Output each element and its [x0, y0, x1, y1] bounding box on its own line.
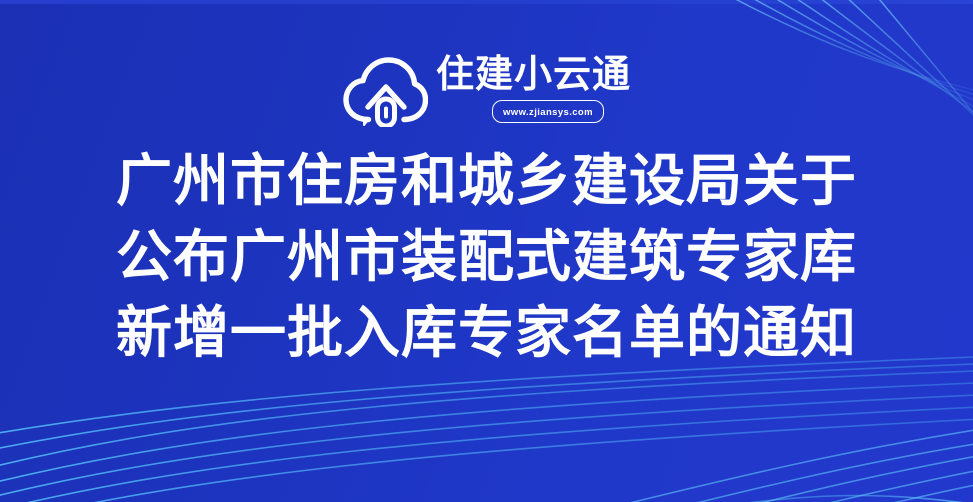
- headline-line-2: 公布广州市装配式建筑专家库: [0, 219, 973, 295]
- headline-line-1: 广州市住房和城乡建设局关于: [0, 143, 973, 219]
- brand-block: 住建小云通 www.zjiansys.com: [436, 53, 631, 123]
- notice-banner: 住建小云通 www.zjiansys.com 广州市住房和城乡建设局关于 公布广…: [0, 0, 973, 502]
- headline-line-3: 新增一批入库专家名单的通知: [0, 295, 973, 371]
- page-title: 广州市住房和城乡建设局关于 公布广州市装配式建筑专家库 新增一批入库专家名单的通…: [0, 143, 973, 371]
- banner-content: 住建小云通 www.zjiansys.com 广州市住房和城乡建设局关于 公布广…: [0, 0, 973, 502]
- brand-name: 住建小云通: [436, 53, 631, 97]
- logo-lockup: 住建小云通 www.zjiansys.com: [342, 53, 631, 131]
- brand-url-text: www.zjiansys.com: [503, 107, 593, 118]
- cloud-house-icon: [342, 55, 428, 127]
- brand-url-pill: www.zjiansys.com: [492, 100, 604, 123]
